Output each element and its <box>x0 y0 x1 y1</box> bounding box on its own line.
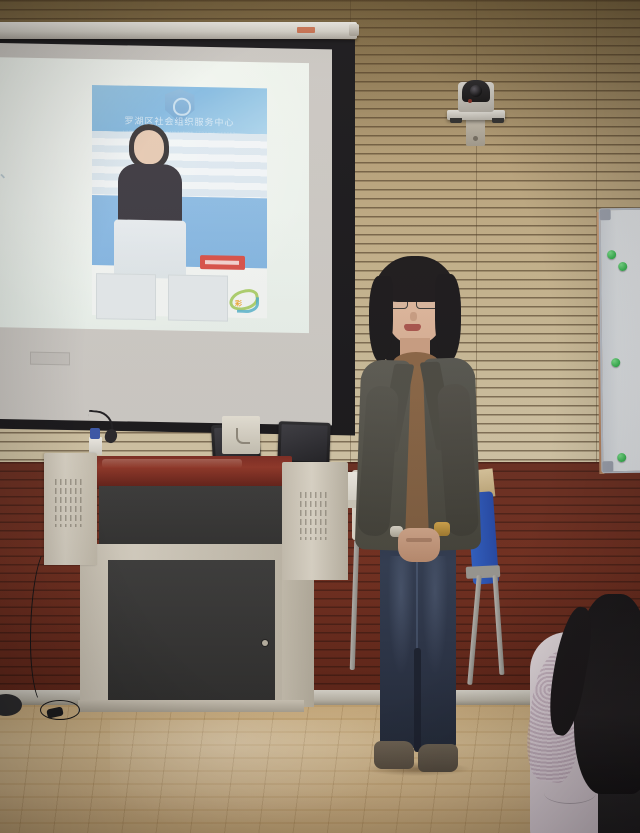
portrait-skirt <box>114 219 186 278</box>
lectern-right-column <box>282 575 314 707</box>
slide-text-block-1: 现任深圳 作服务社 圳市社会 兼任深圳 会秘书长、 会副秘书 <box>0 80 44 205</box>
website-portrait <box>110 123 190 275</box>
lectern-cable-hook <box>236 428 250 444</box>
organization-logo-icon: 彩 <box>225 288 263 319</box>
whiteboard[interactable] <box>599 208 640 473</box>
slide-line: "领航 <box>0 242 44 264</box>
slide-line: 会副秘书 <box>0 183 44 205</box>
website-cta-button <box>200 255 245 270</box>
presenter-hair-left <box>369 276 393 362</box>
slide-line: 兼任深圳 <box>0 142 44 164</box>
jeans-highlight <box>422 556 448 676</box>
portrait-head <box>134 130 164 165</box>
cabinet-lock-icon[interactable] <box>262 640 268 646</box>
slide-line: 现任深圳 <box>0 80 44 102</box>
slide-line: 市第五届 <box>0 262 44 284</box>
camera-status-led <box>468 99 472 103</box>
roller-brand-badge <box>297 27 315 33</box>
slide-line: 专业社 <box>0 283 44 305</box>
speaker-grille-icon <box>55 479 85 527</box>
camera-plate-foot <box>492 118 504 123</box>
presenter-mouth <box>404 324 421 331</box>
presenter-boot <box>418 744 458 772</box>
microphone-indicator <box>90 428 100 439</box>
lectern-cabinet-door[interactable] <box>108 560 275 703</box>
lectern-upper-panel <box>99 486 292 544</box>
slide-line: 圳市社会 <box>0 121 44 143</box>
presenter-hair-right <box>435 274 461 362</box>
jeans-leg-gap <box>414 648 421 752</box>
attendee-jacket-drawstring <box>544 782 596 804</box>
slide-text-block-2: 采购评 "领航 市第五届 专业社 <box>0 221 44 305</box>
website-card <box>168 274 228 321</box>
presenter-nose <box>410 312 417 321</box>
screen-bottom-tab <box>30 352 70 366</box>
presenter-hands <box>398 528 440 562</box>
speaker-grille-icon <box>300 492 330 540</box>
whiteboard-magnet[interactable] <box>617 453 626 462</box>
slide-line: 作服务社 <box>0 101 44 123</box>
camera-lens-icon <box>470 85 482 97</box>
presentation-scene: 现任深圳 作服务社 圳市社会 兼任深圳 会秘书长、 会副秘书 采购评 "领航 市… <box>0 0 640 833</box>
projected-slide: 现任深圳 作服务社 圳市社会 兼任深圳 会秘书长、 会副秘书 采购评 "领航 市… <box>0 57 309 333</box>
whiteboard-magnet[interactable] <box>607 250 616 259</box>
slide-line: 会秘书长、 <box>0 162 44 184</box>
presenter <box>352 256 484 806</box>
portrait-top <box>118 164 182 227</box>
slide-line: 采购评 <box>0 221 44 243</box>
lectern-right-speaker-panel <box>282 462 348 580</box>
foreground-attendee <box>520 612 640 833</box>
lectern-plinth <box>78 700 304 712</box>
camera-plate-foot <box>450 118 462 123</box>
whiteboard-corner <box>602 461 613 472</box>
whiteboard-magnet[interactable] <box>618 262 627 271</box>
website-card <box>96 273 156 320</box>
lectern-worktop <box>92 456 292 488</box>
whiteboard-corner <box>600 209 611 220</box>
jeans-highlight <box>388 556 414 676</box>
camera-wall-mount <box>466 120 485 146</box>
roller-end-cap <box>349 24 359 36</box>
presenter-boot <box>374 741 414 769</box>
slide-website-screenshot: 罗湖区社会组织服务中心 LUOHU SOCIAL ORGANIZATION SE… <box>92 85 267 318</box>
whiteboard-magnet[interactable] <box>611 358 620 367</box>
